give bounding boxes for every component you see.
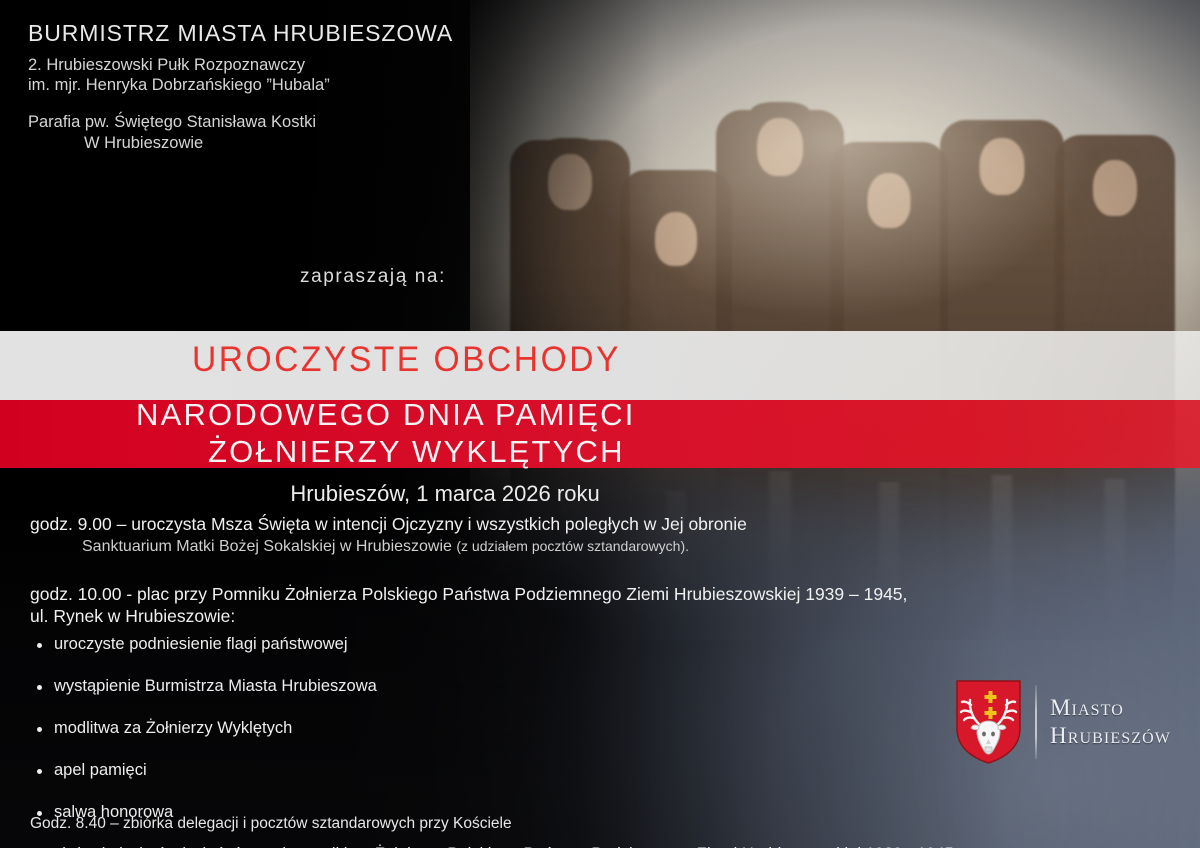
program-item-2-line-1: godz. 10.00 - plac przy Pomniku Żołnierz… (30, 584, 907, 604)
event-title-line-1: UROCZYSTE OBCHODY (192, 340, 621, 380)
venue-note: (z udziałem pocztów sztandarowych). (456, 538, 689, 554)
event-place-date: Hrubieszów, 1 marca 2026 roku (0, 481, 890, 507)
program-item-2-line-2: ul. Rynek w Hrubieszowie: (30, 606, 235, 626)
parish-line-2: W Hrubieszowie (28, 133, 316, 154)
list-item: wystąpienie Burmistrza Miasta Hrubieszow… (30, 677, 980, 696)
logo-line-2: Hrubieszów (1050, 722, 1171, 750)
event-title-line-2: NARODOWEGO DNIA PAMIĘCI (136, 397, 636, 432)
logo-line-1: Miasto (1050, 694, 1171, 722)
program-item-1-main: godz. 9.00 – uroczysta Msza Święta w int… (30, 514, 747, 535)
logo-wordmark: Miasto Hrubieszów (1050, 694, 1171, 750)
list-item: uroczyste podniesienie flagi państwowej (30, 635, 980, 654)
logo-divider (1035, 685, 1037, 759)
event-title-line-3: ŻOŁNIERZY WYKLĘTYCH (136, 433, 636, 470)
authority-title: BURMISTRZ MIASTA HRUBIESZOWA (28, 20, 453, 47)
event-title-lines-2-3: NARODOWEGO DNIA PAMIĘCI ŻOŁNIERZY WYKLĘT… (136, 396, 636, 470)
program-item-1-venue: Sanktuarium Matki Bożej Sokalskiej w Hru… (82, 538, 689, 556)
regiment-line-1: 2. Hrubieszowski Pułk Rozpoznawczy (28, 56, 305, 74)
parish-line-1: Parafia pw. Świętego Stanisława Kostki (28, 113, 316, 131)
program-footnote: Godz. 8.40 – zbiórka delegacji i pocztów… (30, 815, 512, 833)
list-item: apel pamięci (30, 761, 980, 780)
list-item: modlitwa za Żołnierzy Wyklętych (30, 719, 980, 738)
city-logo: Miasto Hrubieszów (955, 679, 1171, 765)
hrubieszow-coat-of-arms-icon (955, 679, 1022, 765)
parish-name: Parafia pw. Świętego Stanisława Kostki W… (28, 112, 316, 154)
poster: BURMISTRZ MIASTA HRUBIESZOWA 2. Hrubiesz… (0, 0, 1200, 848)
venue-name: Sanktuarium Matki Bożej Sokalskiej w Hru… (82, 538, 452, 555)
regiment-line-2: im. mjr. Henryka Dobrzańskiego ”Hubala” (28, 76, 330, 94)
program-item-2: godz. 10.00 - plac przy Pomniku Żołnierz… (30, 583, 1030, 627)
invitation-lead-in: zapraszają na: (300, 266, 446, 288)
regiment-name: 2. Hrubieszowski Pułk Rozpoznawczy im. m… (28, 55, 330, 95)
